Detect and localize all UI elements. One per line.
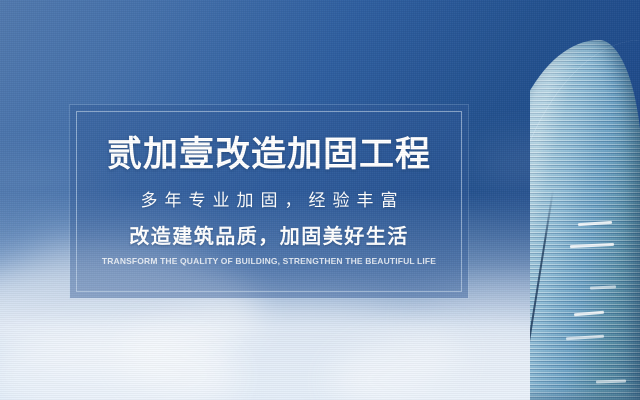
banner-image: 贰加壹改造加固工程 多年专业加固，经验丰富 改造建筑品质，加固美好生活 TRAN…: [0, 0, 640, 400]
photo-grain: [0, 0, 640, 400]
